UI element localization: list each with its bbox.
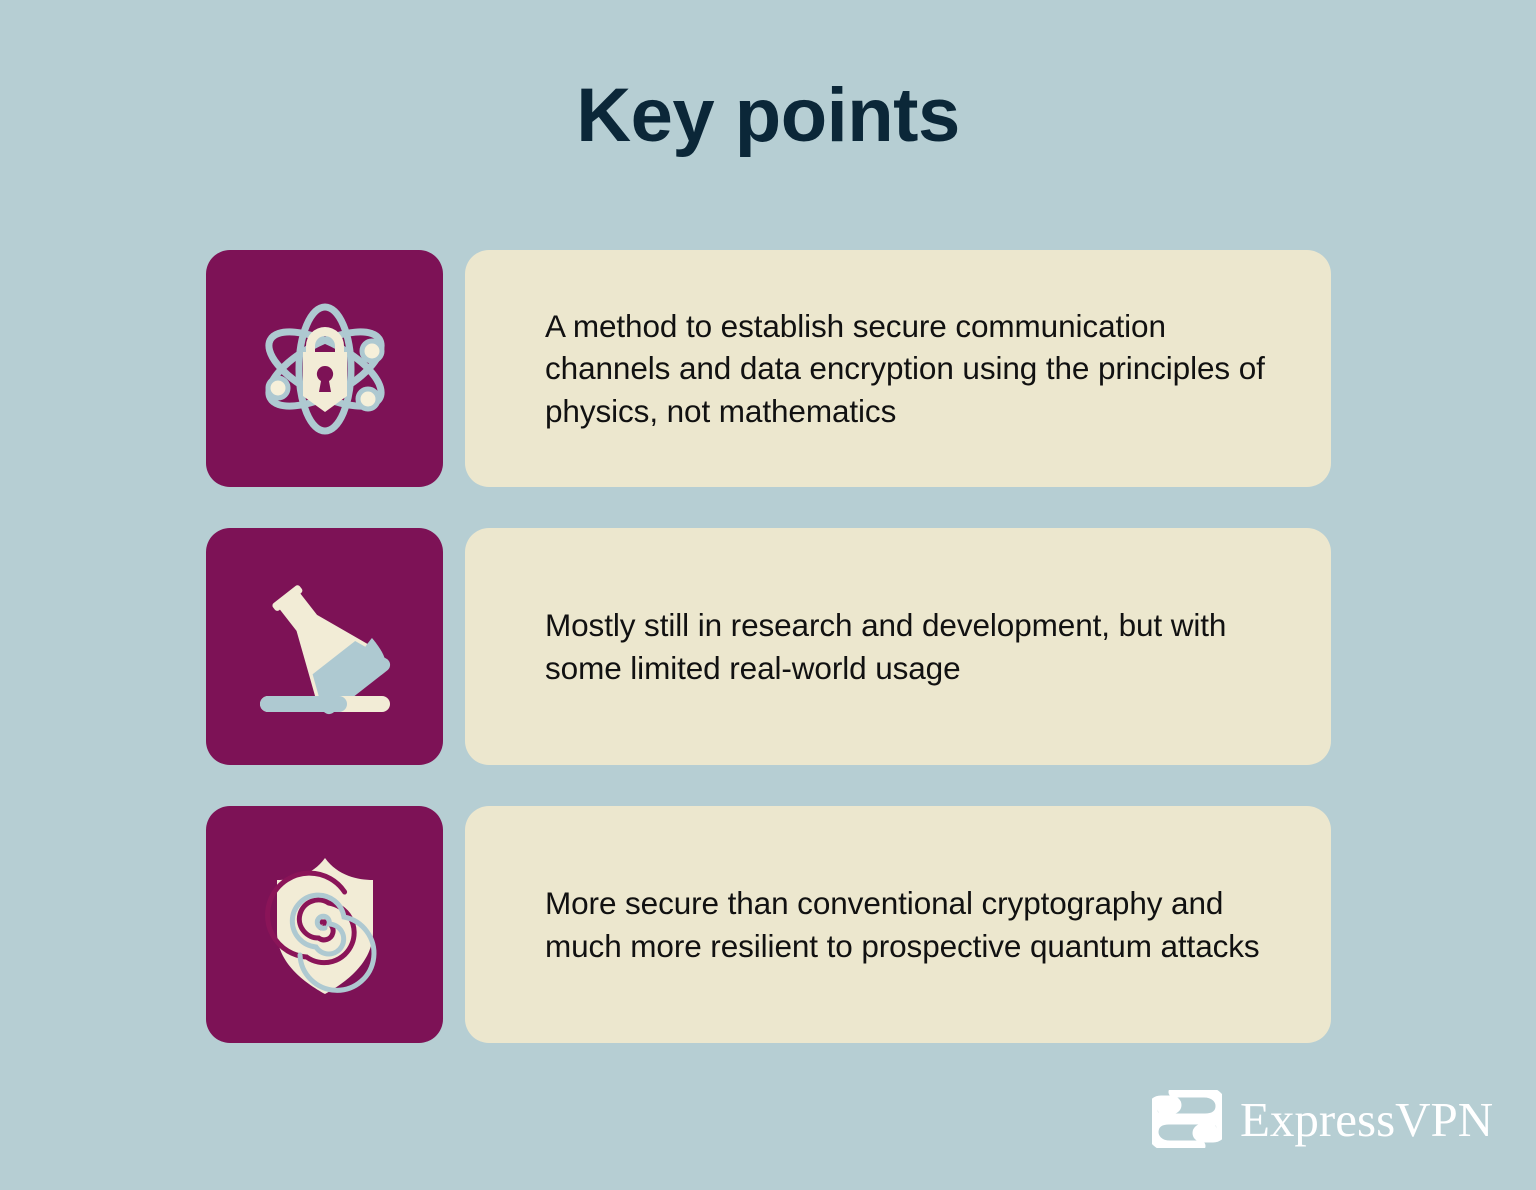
shield-spiral-icon [250, 850, 400, 1000]
point-text: Mostly still in research and development… [545, 604, 1269, 688]
flask-progress-icon [250, 572, 400, 722]
icon-tile-atom-lock [206, 250, 443, 487]
icon-tile-shield [206, 806, 443, 1043]
page-title: Key points [0, 78, 1536, 154]
progress-bar-icon [260, 696, 390, 712]
expressvpn-wordmark: ExpressVPN [1240, 1095, 1493, 1144]
atom-lock-icon [250, 294, 400, 444]
key-points-list: A method to establish secure communicati… [206, 250, 1331, 1043]
point-card-1: A method to establish secure communicati… [465, 250, 1331, 487]
expressvpn-logo: ExpressVPN [1152, 1083, 1493, 1155]
icon-tile-flask [206, 528, 443, 765]
list-item: Mostly still in research and development… [206, 528, 1331, 765]
expressvpn-e-mark-icon [1152, 1090, 1222, 1148]
point-card-3: More secure than conventional cryptograp… [465, 806, 1331, 1043]
point-card-2: Mostly still in research and development… [465, 528, 1331, 765]
infographic-page: Key points [0, 0, 1536, 1190]
list-item: More secure than conventional cryptograp… [206, 806, 1331, 1043]
point-text: More secure than conventional cryptograp… [545, 882, 1269, 966]
list-item: A method to establish secure communicati… [206, 250, 1331, 487]
point-text: A method to establish secure communicati… [545, 305, 1269, 432]
